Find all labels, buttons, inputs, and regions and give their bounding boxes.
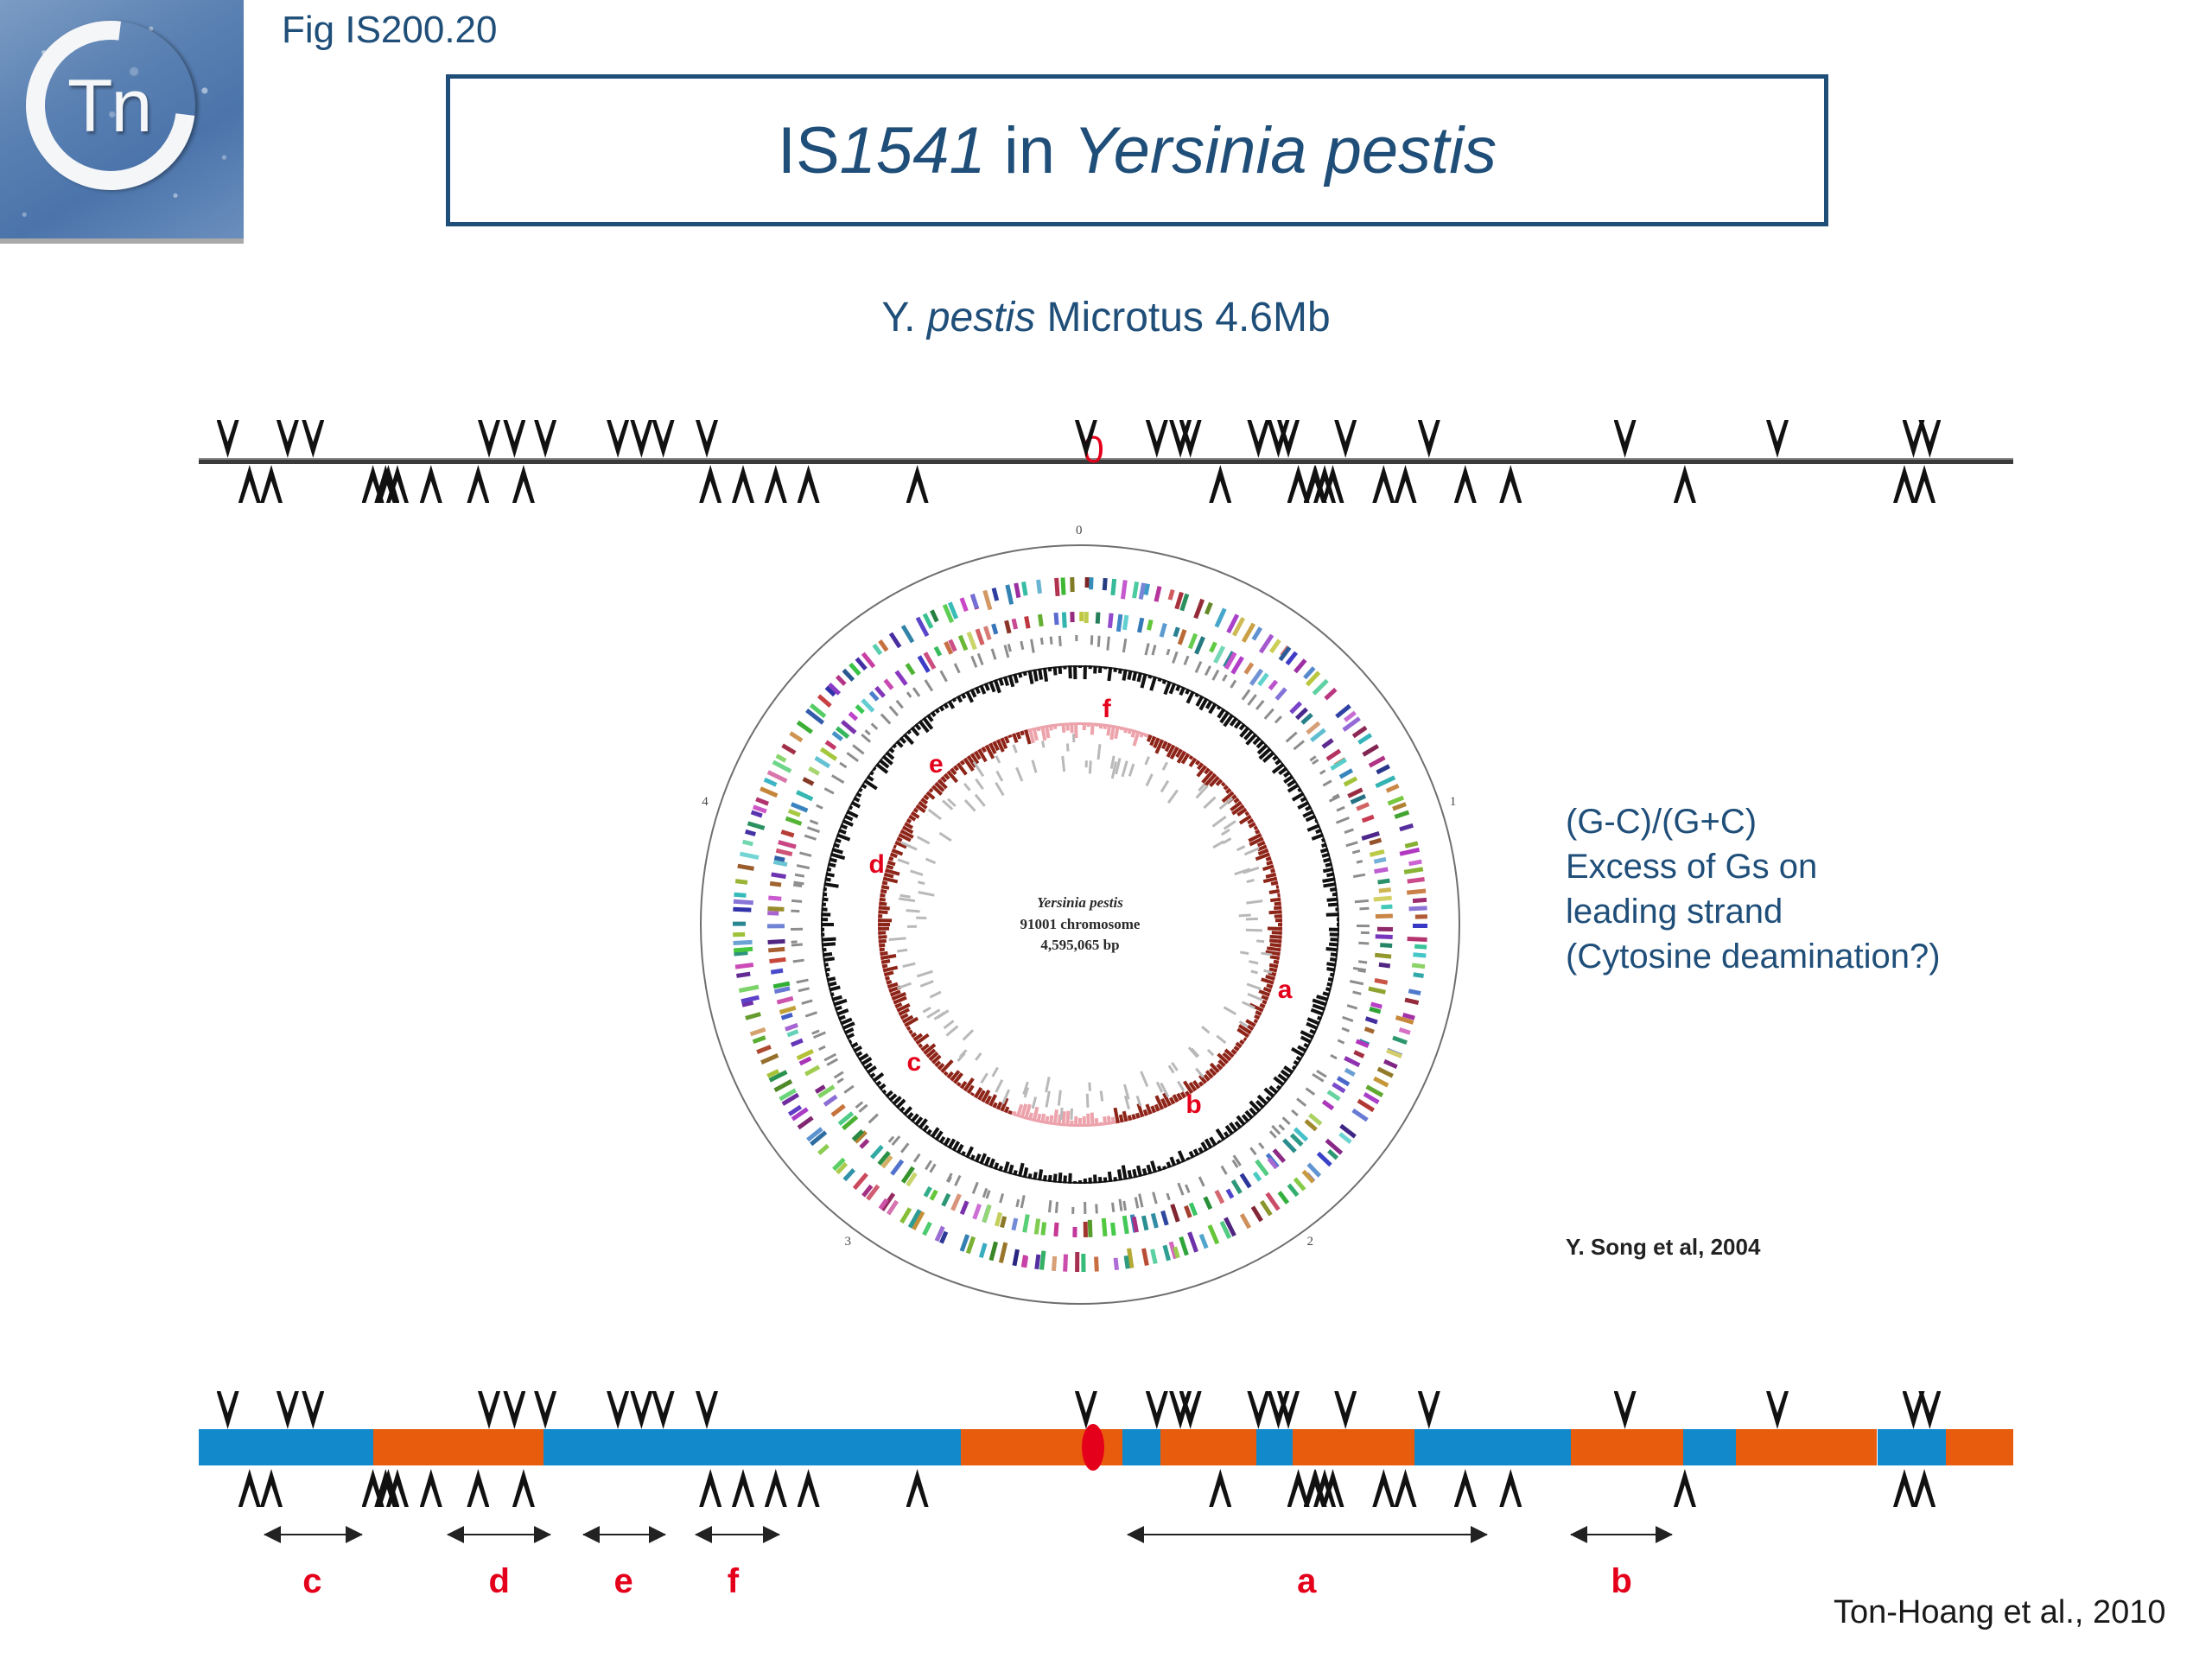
is-element-arrow-dn [1247, 1391, 1269, 1429]
bottom-genome-map: cdefab [199, 1374, 2013, 1633]
is-element-arrow-dn [1614, 420, 1637, 458]
title-italic-gene: 1541 [840, 114, 986, 188]
span-arrow-d [448, 1534, 551, 1535]
span-arrow-f [696, 1534, 779, 1535]
is-element-arrow-up [467, 1469, 489, 1507]
span-label-a: a [1297, 1562, 1316, 1601]
is-element-arrow-dn [607, 420, 629, 458]
is-element-arrow-dn [1247, 420, 1269, 458]
replichore-segment-orange [373, 1429, 543, 1465]
is-element-arrow-up [1372, 465, 1395, 503]
span-arrow-a [1128, 1534, 1487, 1535]
is-element-arrow-dn [1334, 1391, 1357, 1429]
replichore-segment-orange [1736, 1429, 1878, 1465]
center-species: Yersinia pestis [1020, 893, 1141, 914]
is-element-arrow-up [798, 465, 820, 503]
span-label-c: c [302, 1562, 321, 1601]
is-element-arrow-dn [276, 420, 299, 458]
span-arrow-b [1571, 1534, 1673, 1535]
circular-map-center-label: Yersinia pestis 91001 chromosome 4,595,0… [1020, 893, 1141, 957]
logo-tn-text: Tn [67, 64, 150, 149]
subtitle-italic: pestis [927, 295, 1035, 340]
replichore-segment-orange [1160, 1429, 1256, 1465]
is-element-arrow-dn [630, 1391, 652, 1429]
is-element-arrow-dn [1766, 420, 1789, 458]
circular-region-label-e: e [929, 750, 944, 779]
center-chromosome: 91001 chromosome [1020, 914, 1141, 936]
span-label-d: d [489, 1562, 510, 1601]
annotation-line-3: leading strand [1566, 889, 1941, 934]
scale-tick-1: 1 [1450, 795, 1457, 810]
is-element-arrow-dn [534, 1391, 556, 1429]
is-element-arrow-dn [503, 420, 525, 458]
is-element-arrow-dn [478, 420, 500, 458]
is-element-arrow-dn [630, 420, 652, 458]
replichore-segment-blue [1256, 1429, 1293, 1465]
title-italic-species: Yersinia pestis [1073, 114, 1497, 188]
ctn-logo: Tn [0, 0, 244, 244]
is-element-arrow-dn [534, 420, 556, 458]
is-element-arrow-up [467, 465, 489, 503]
is-element-arrow-up [1209, 465, 1231, 503]
is-element-arrow-up [1893, 1469, 1916, 1507]
replichore-bar [199, 1429, 2013, 1465]
is-element-arrow-up [512, 1469, 535, 1507]
circular-region-label-c: c [906, 1048, 921, 1077]
is-element-arrow-dn [652, 420, 675, 458]
is-element-arrow-dn [503, 1391, 525, 1429]
is-element-arrow-up [732, 1469, 754, 1507]
scale-tick-2: 2 [1306, 1235, 1313, 1249]
is-element-arrow-up [260, 465, 283, 503]
is-element-arrow-dn [302, 1391, 324, 1429]
is-element-arrow-up [1913, 465, 1935, 503]
is-element-arrow-up [765, 465, 787, 503]
is-element-arrow-dn [1918, 420, 1941, 458]
is-element-arrow-dn [696, 1391, 718, 1429]
is-element-arrow-dn [1334, 420, 1357, 458]
is-element-arrow-up [1209, 1469, 1231, 1507]
is-element-arrow-up [798, 1469, 820, 1507]
title-mid: in [986, 114, 1073, 188]
replichore-segment-blue [199, 1429, 373, 1465]
is-element-arrow-up [512, 465, 535, 503]
circular-genome-map: Yersinia pestis 91001 chromosome 4,595,0… [691, 536, 1469, 1313]
replichore-segment-orange [1571, 1429, 1683, 1465]
is-element-arrow-up [732, 465, 754, 503]
is-element-arrow-up [699, 1469, 721, 1507]
is-element-arrow-up [1674, 1469, 1696, 1507]
is-element-arrow-up [1499, 465, 1522, 503]
span-arrow-e [583, 1534, 665, 1535]
circular-region-label-a: a [1278, 976, 1293, 1005]
is-element-arrow-dn [607, 1391, 629, 1429]
is-element-arrow-up [1372, 1469, 1395, 1507]
subtitle: Y. pestis Microtus 4.6Mb [0, 294, 2212, 341]
is-element-arrow-up [906, 465, 929, 503]
is-element-arrow-dn [217, 1391, 239, 1429]
is-element-arrow-up [1395, 1469, 1417, 1507]
annotation-line-2: Excess of Gs on [1566, 844, 1941, 889]
gc-skew-annotation: (G-C)/(G+C) Excess of Gs on leading stra… [1566, 799, 1941, 979]
annotation-line-4: (Cytosine deamination?) [1566, 934, 1941, 979]
is-element-arrow-up [1454, 1469, 1477, 1507]
replichore-segment-blue [1122, 1429, 1160, 1465]
replichore-segment-blue [1683, 1429, 1736, 1465]
circular-region-label-b: b [1185, 1090, 1201, 1120]
is-element-arrow-dn [1418, 1391, 1440, 1429]
is-element-arrow-up [1454, 465, 1477, 503]
center-size: 4,595,065 bp [1020, 935, 1141, 957]
replichore-segment-blue [543, 1429, 961, 1465]
circular-region-label-d: d [868, 850, 884, 880]
is-element-arrow-dn [652, 1391, 675, 1429]
span-label-f: f [728, 1562, 739, 1601]
span-arrow-c [264, 1534, 362, 1535]
is-element-arrow-up [260, 1469, 283, 1507]
title-prefix: IS [778, 114, 840, 188]
circular-region-label-f: f [1103, 695, 1111, 724]
figure-credit: Ton-Hoang et al., 2010 [1834, 1594, 2166, 1631]
is-element-arrow-dn [276, 1391, 299, 1429]
is-element-arrow-dn [1146, 420, 1168, 458]
replichore-segment-blue [1878, 1429, 1947, 1465]
is-element-arrow-dn [1918, 1391, 1941, 1429]
is-element-arrow-dn [1766, 1391, 1789, 1429]
is-element-arrow-up [1893, 465, 1916, 503]
is-element-arrow-up [765, 1469, 787, 1507]
is-element-arrow-dn [696, 420, 718, 458]
subtitle-prefix: Y. [881, 295, 927, 340]
top-map-backbone [199, 458, 2013, 464]
top-genome-map: 0 [199, 397, 2013, 501]
scale-tick-4: 4 [702, 795, 709, 810]
is-element-arrow-up [238, 465, 261, 503]
is-element-arrow-dn [217, 420, 239, 458]
replichore-segment-blue [1414, 1429, 1571, 1465]
is-element-arrow-up [420, 1469, 442, 1507]
is-element-arrow-up [1913, 1469, 1935, 1507]
span-label-e: e [613, 1562, 632, 1601]
is-element-arrow-up [1674, 465, 1696, 503]
is-element-arrow-up [1395, 465, 1417, 503]
is-element-arrow-dn [1418, 420, 1440, 458]
is-element-arrow-dn [1614, 1391, 1637, 1429]
is-element-arrow-dn [1146, 1391, 1168, 1429]
is-element-arrow-up [238, 1469, 261, 1507]
page-title: IS1541 in Yersinia pestis [778, 113, 1497, 188]
scale-tick-0: 0 [1076, 524, 1083, 538]
is-element-arrow-up [420, 465, 442, 503]
subtitle-suffix: Microtus 4.6Mb [1035, 295, 1330, 340]
annotation-line-1: (G-C)/(G+C) [1566, 799, 1941, 844]
scale-tick-3: 3 [845, 1235, 852, 1249]
is-element-arrow-dn [478, 1391, 500, 1429]
is-element-arrow-up [1499, 1469, 1522, 1507]
replichore-segment-orange [1946, 1429, 2013, 1465]
title-box: IS1541 in Yersinia pestis [446, 74, 1828, 226]
figure-label: Fig IS200.20 [282, 9, 498, 52]
is-element-arrow-up [906, 1469, 929, 1507]
is-element-arrow-dn [302, 420, 324, 458]
span-label-b: b [1611, 1562, 1631, 1601]
replichore-segment-orange [1293, 1429, 1414, 1465]
is-element-arrow-up [699, 465, 721, 503]
circular-map-credit: Y. Song et al, 2004 [1566, 1234, 1760, 1261]
